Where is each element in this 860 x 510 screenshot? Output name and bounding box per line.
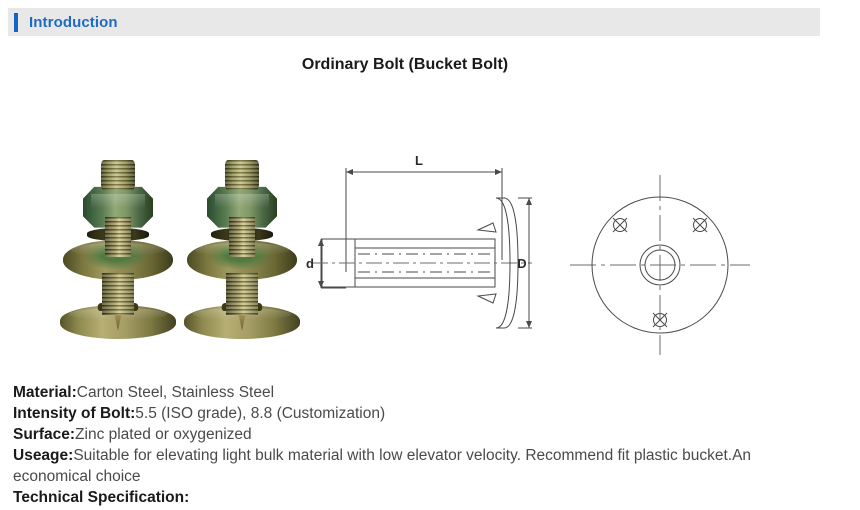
page-title: Ordinary Bolt (Bucket Bolt): [0, 56, 810, 74]
header-accent-bar: [14, 13, 18, 32]
spec-line-useage: Useage:Suitable for elevating light bulk…: [13, 445, 773, 487]
spec-value: 5.5 (ISO grade), 8.8 (Customization): [135, 405, 385, 422]
spec-line-intensity: Intensity of Bolt:5.5 (ISO grade), 8.8 (…: [13, 403, 773, 424]
spec-line-material: Material:Carton Steel, Stainless Steel: [13, 382, 773, 403]
introduction-header-bar: Introduction: [8, 8, 820, 36]
dimension-label-D: D: [517, 256, 526, 271]
section-title: Introduction: [29, 15, 118, 30]
spec-value: Zinc plated or oxygenized: [75, 426, 252, 443]
side-view-drawing: L d D: [300, 140, 550, 355]
bolt-photo-item: [182, 155, 302, 345]
specifications-block: Material:Carton Steel, Stainless Steel I…: [13, 382, 773, 508]
bolt-lower-shank: [102, 273, 134, 315]
dimension-line-L: [346, 168, 502, 272]
bolt-upper-shank: [105, 217, 131, 257]
bolt-photo-item: [58, 155, 178, 345]
bolt-stud: [101, 160, 135, 190]
technical-specification-heading: Technical Specification:: [13, 487, 773, 508]
spec-value: Suitable for elevating light bulk materi…: [13, 447, 751, 485]
spec-label: Intensity of Bolt:: [13, 405, 135, 422]
bolt-upper-shank: [229, 217, 255, 257]
spec-label: Useage:: [13, 447, 73, 464]
bucket-bolt-photo: [40, 155, 310, 345]
spec-label: Surface:: [13, 426, 75, 443]
bolt-lower-shank: [226, 273, 258, 315]
lug-mark: [693, 218, 707, 232]
spec-label: Material:: [13, 384, 77, 401]
spec-value: Carton Steel, Stainless Steel: [77, 384, 274, 401]
bolt-stud: [225, 160, 259, 190]
dimension-label-L: L: [415, 153, 423, 168]
top-view-drawing: [565, 170, 755, 360]
figures-row: L d D: [0, 100, 860, 370]
dimension-label-d: d: [306, 256, 314, 271]
spec-line-surface: Surface:Zinc plated or oxygenized: [13, 424, 773, 445]
lug-mark: [613, 218, 627, 232]
